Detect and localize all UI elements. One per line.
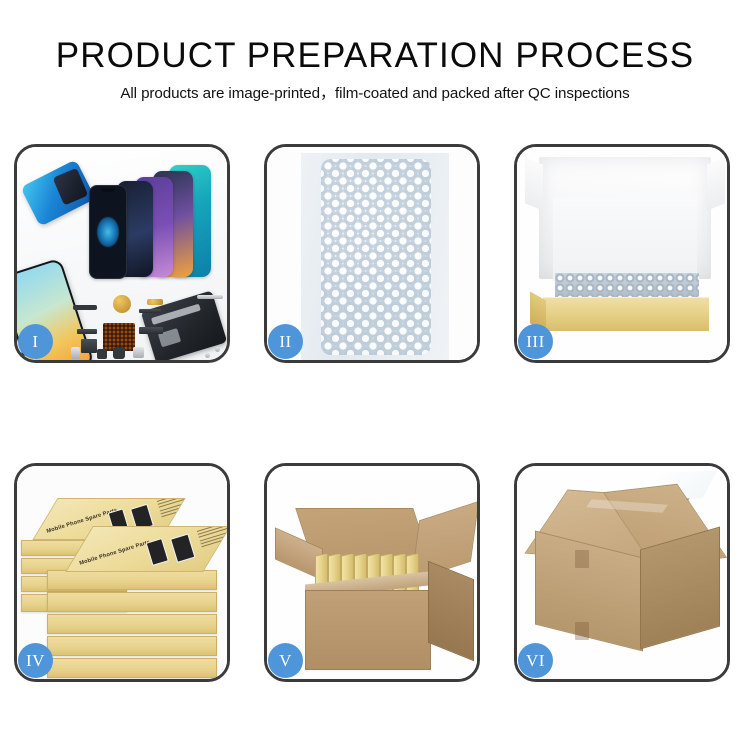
box-print-label-2: Mobile Phone Spare Parts [79,539,151,566]
stacked-box-f4 [47,636,217,656]
part-earpiece [113,347,125,359]
step-panel-4: Mobile Phone Spare Parts Mobile Phone Sp… [14,463,230,682]
page-title: PRODUCT PREPARATION PROCESS [0,36,750,76]
carton-tab-upper [575,550,589,568]
step-badge-3: III [518,324,553,359]
carton-tab-lower [575,622,589,640]
part-sim-tray [71,347,80,359]
part-tweezers [197,295,223,299]
step-image-4: Mobile Phone Spare Parts Mobile Phone Sp… [17,466,227,679]
stacked-box-f3 [47,614,217,634]
step-image-5 [267,466,477,679]
phone-front-glass [89,185,127,279]
part-camera-lens [113,295,131,313]
inner-box-front-panel [543,297,709,331]
carton-front-face [305,590,431,670]
step-panel-2: II [264,144,480,363]
page-header: PRODUCT PREPARATION PROCESS All products… [0,36,750,104]
step-panel-1: I [14,144,230,363]
bubble-pattern [321,159,431,355]
step-panel-6: VI [514,463,730,682]
stacked-box-f5 [47,658,217,678]
step-badge-1: I [18,324,53,359]
bubble-wrapped-package [321,159,431,355]
part-speaker [73,305,97,310]
stacked-box-f1 [47,570,217,590]
part-button-flex [81,339,97,353]
step-badge-5: V [268,643,303,678]
step-image-1 [17,147,227,360]
step-panel-3: III [514,144,730,363]
part-screw-2 [215,347,220,352]
box-top-face-lower: Mobile Phone Spare Parts [65,526,227,572]
part-connector-gold [147,299,163,305]
box-print-screen-2a [146,538,169,566]
part-bracket [133,347,144,358]
step-badge-6: VI [518,643,553,678]
step-image-6 [517,466,727,679]
part-flex-cable-3 [139,327,163,334]
box-print-screen-2b [170,533,195,562]
stacked-box-f2 [47,592,217,612]
part-flex-cable-2 [77,329,97,334]
part-vibrator [97,349,107,359]
step-badge-2: II [268,324,303,359]
process-steps-grid: I II III [14,144,730,682]
part-screw-1 [205,353,210,358]
step-badge-4: IV [18,643,53,678]
step-panel-5: V [264,463,480,682]
step-image-3 [517,147,727,360]
inner-box-interior [553,197,697,281]
page-subtitle: All products are image-printed，film-coat… [0,84,750,104]
part-flex-cable-1 [139,309,161,313]
step-image-2 [267,147,477,360]
